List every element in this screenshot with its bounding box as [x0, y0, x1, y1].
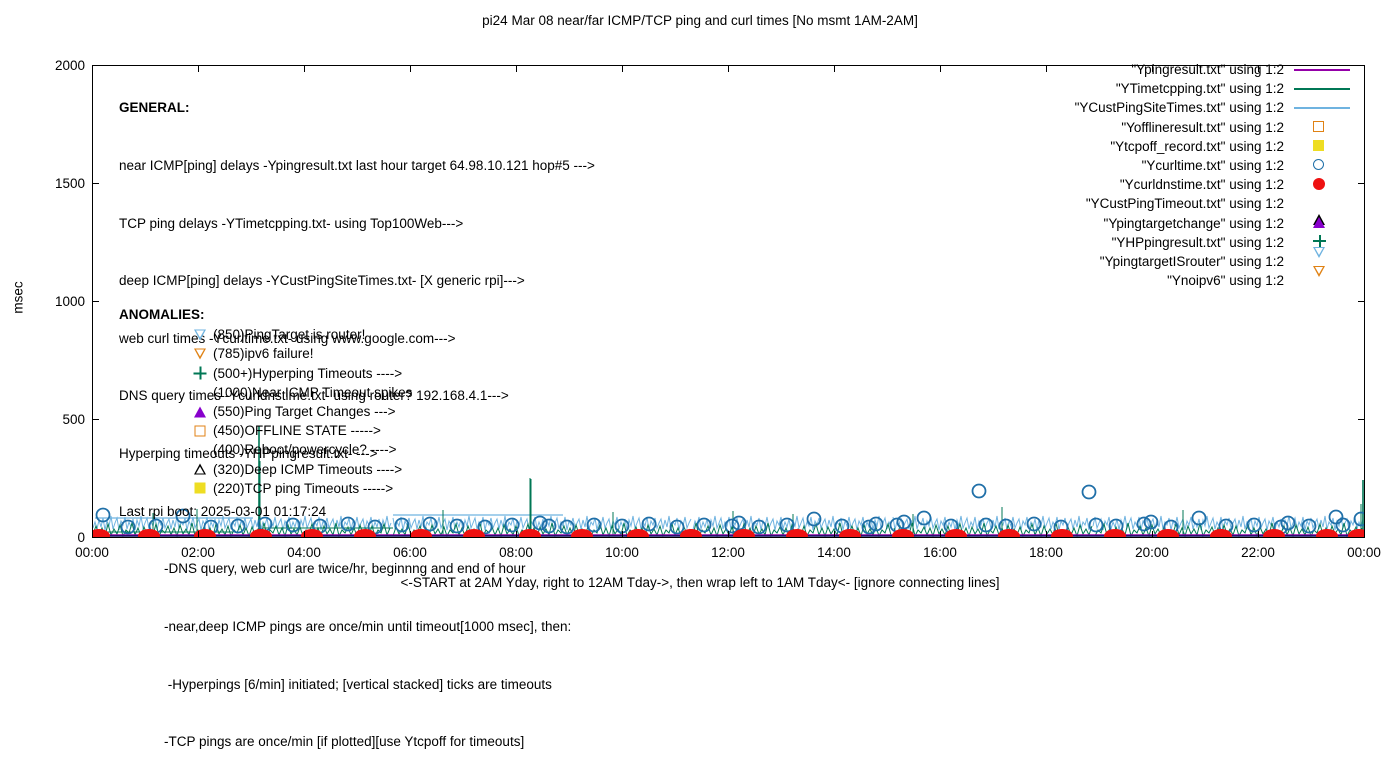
anomalies-block: ANOMALIES: (850)PingTarget is router! (7…	[119, 305, 412, 498]
x-tick-mark-top	[198, 65, 199, 72]
legend-label: "Ynoipv6" using 1:2	[1167, 271, 1284, 290]
x-tick-mark	[622, 531, 623, 538]
anomaly-row: (550)Ping Target Changes --->	[187, 402, 412, 421]
x-tick-mark	[516, 531, 517, 538]
x-tick-mark	[1046, 531, 1047, 538]
legend-label: "Ytcpoff_record.txt" using 1:2	[1110, 137, 1284, 156]
triangle-up-open-icon	[1290, 194, 1360, 213]
general-line: deep ICMP[ping] delays -YCustPingSiteTim…	[119, 271, 595, 290]
legend-label: "YCustPingTimeout.txt" using 1:2	[1086, 194, 1284, 213]
legend-label: "Ycurldnstime.txt" using 1:2	[1120, 175, 1284, 194]
general-header: GENERAL:	[119, 98, 595, 117]
legend-item[interactable]: "Yofflineresult.txt" using 1:2	[960, 118, 1360, 137]
triangle-up-open-icon	[187, 460, 213, 479]
general-line: TCP ping delays -YTimetcpping.txt- using…	[119, 214, 595, 233]
x-tick-label: 10:00	[587, 545, 657, 560]
anomaly-label: (500+)Hyperping Timeouts ---->	[213, 364, 402, 383]
legend-item[interactable]: "Ycurltime.txt" using 1:2	[960, 156, 1360, 175]
legend-line-teal-icon	[1290, 79, 1360, 98]
anomaly-label: (1000)Near ICMP Timeout spikes	[213, 383, 412, 402]
x-tick-label: 18:00	[1011, 545, 1081, 560]
anomaly-label: (320)Deep ICMP Timeouts ---->	[213, 460, 402, 479]
triangle-up-purple-icon	[1290, 214, 1360, 233]
y-tick-label: 1000	[25, 294, 85, 309]
anomaly-label: (450)OFFLINE STATE ----->	[213, 421, 381, 440]
x-tick-label: 06:00	[375, 545, 445, 560]
square-filled-yellow-icon	[1290, 137, 1360, 156]
legend-label: "Ycurltime.txt" using 1:2	[1142, 156, 1284, 175]
x-tick-label: 04:00	[269, 545, 339, 560]
y-tick-label: 500	[25, 412, 85, 427]
x-tick-mark	[1364, 531, 1365, 538]
legend-label: "YCustPingSiteTimes.txt" using 1:2	[1075, 98, 1284, 117]
legend-item[interactable]: "Ycurldnstime.txt" using 1:2	[960, 175, 1360, 194]
square-open-orange-icon	[187, 421, 213, 440]
x-tick-mark	[304, 531, 305, 538]
x-tick-label: 02:00	[163, 545, 233, 560]
x-tick-label: 14:00	[799, 545, 869, 560]
general-line: Last rpi boot: 2025-03-01 01:17:24	[119, 502, 595, 521]
anomaly-label: (550)Ping Target Changes --->	[213, 402, 395, 421]
triangle-down-lightblue-icon	[1290, 252, 1360, 271]
legend-label: "YTimetcpping.txt" using 1:2	[1116, 79, 1284, 98]
y-tick-label: 0	[25, 530, 85, 545]
x-tick-mark-top	[304, 65, 305, 72]
legend-line-lightblue-icon	[1290, 98, 1360, 117]
chart-title: pi24 Mar 08 near/far ICMP/TCP ping and c…	[0, 13, 1400, 28]
legend-line-purple-icon	[1290, 60, 1360, 79]
x-tick-label: 12:00	[693, 545, 763, 560]
x-tick-mark-top	[410, 65, 411, 72]
general-line: -TCP pings are once/min [if plotted][use…	[119, 732, 595, 751]
triangle-down-orange-icon	[1290, 271, 1360, 290]
square-filled-yellow-icon	[187, 479, 213, 498]
no-icon	[187, 440, 213, 459]
x-tick-mark	[92, 531, 93, 538]
legend-item[interactable]: "YTimetcpping.txt" using 1:2	[960, 79, 1360, 98]
legend-label: "Ypingtargetchange" using 1:2	[1104, 214, 1284, 233]
x-tick-mark-top	[940, 65, 941, 72]
circle-filled-red-icon	[1290, 175, 1360, 194]
legend-label: "YpingtargetISrouter" using 1:2	[1100, 252, 1284, 271]
general-line: -near,deep ICMP pings are once/min until…	[119, 617, 595, 636]
legend-item[interactable]: "YpingtargetISrouter" using 1:2	[960, 252, 1360, 271]
x-tick-label: 00:00	[57, 545, 127, 560]
x-tick-mark	[410, 531, 411, 538]
legend-item[interactable]: "Ypingtargetchange" using 1:2	[960, 214, 1360, 233]
legend-item[interactable]: "Ytcpoff_record.txt" using 1:2	[960, 137, 1360, 156]
legend-label: "Yofflineresult.txt" using 1:2	[1121, 118, 1284, 137]
x-tick-label: 00:00	[1329, 545, 1399, 560]
anomaly-row: (450)OFFLINE STATE ----->	[187, 421, 412, 440]
y-tick-label: 2000	[25, 58, 85, 73]
x-tick-mark-top	[1046, 65, 1047, 72]
anomaly-row: (1000)Near ICMP Timeout spikes	[187, 383, 412, 402]
x-tick-label: 22:00	[1223, 545, 1293, 560]
plus-teal-icon	[1290, 233, 1360, 252]
legend-label: "YHPpingresult.txt" using 1:2	[1112, 233, 1284, 252]
triangle-down-orange-icon	[187, 344, 213, 363]
anomaly-label: (400)Reboot/powercycle? ---->	[213, 440, 396, 459]
x-tick-mark	[728, 531, 729, 538]
general-line: -Hyperpings [6/min] initiated; [vertical…	[119, 675, 595, 694]
x-tick-mark-top	[1258, 65, 1259, 72]
anomaly-row: (785)ipv6 failure!	[187, 344, 412, 363]
anomaly-row: (500+)Hyperping Timeouts ---->	[187, 364, 412, 383]
legend-label: "Ypingresult.txt" using 1:2	[1131, 60, 1284, 79]
x-tick-mark	[1152, 531, 1153, 538]
anomaly-row: (400)Reboot/powercycle? ---->	[187, 440, 412, 459]
general-line: near ICMP[ping] delays -Ypingresult.txt …	[119, 156, 595, 175]
triangle-up-purple-icon	[187, 402, 213, 421]
x-tick-label: 20:00	[1117, 545, 1187, 560]
anomaly-label: (785)ipv6 failure!	[213, 344, 314, 363]
legend-item[interactable]: "Ypingresult.txt" using 1:2	[960, 60, 1360, 79]
anomaly-row: (850)PingTarget is router!	[187, 325, 412, 344]
anomalies-header: ANOMALIES:	[119, 305, 412, 324]
x-tick-label: 08:00	[481, 545, 551, 560]
y-tick-label: 1500	[25, 176, 85, 191]
x-tick-mark	[940, 531, 941, 538]
x-tick-mark-top	[516, 65, 517, 72]
no-icon	[187, 383, 213, 402]
legend-item[interactable]: "YHPpingresult.txt" using 1:2	[960, 233, 1360, 252]
x-tick-mark-top	[728, 65, 729, 72]
x-tick-mark	[1258, 531, 1259, 538]
x-tick-mark	[198, 531, 199, 538]
x-axis-caption: <-START at 2AM Yday, right to 12AM Tday-…	[0, 575, 1400, 590]
x-tick-label: 16:00	[905, 545, 975, 560]
legend-item[interactable]: "Ynoipv6" using 1:2	[960, 271, 1360, 290]
anomaly-label: (850)PingTarget is router!	[213, 325, 365, 344]
anomaly-row: (220)TCP ping Timeouts ----->	[187, 479, 412, 498]
x-tick-mark-top	[1152, 65, 1153, 72]
anomaly-label: (220)TCP ping Timeouts ----->	[213, 479, 393, 498]
plus-teal-icon	[187, 364, 213, 383]
x-tick-mark-top	[622, 65, 623, 72]
y-axis-label: msec	[11, 258, 26, 338]
anomaly-row: (320)Deep ICMP Timeouts ---->	[187, 460, 412, 479]
chart-legend: "Ypingresult.txt" using 1:2 "YTimetcppin…	[960, 60, 1360, 290]
circle-open-blue-icon	[1290, 156, 1360, 175]
legend-item[interactable]: "YCustPingTimeout.txt" using 1:2	[960, 194, 1360, 213]
x-tick-mark	[834, 531, 835, 538]
triangle-down-lightblue-icon	[187, 325, 213, 344]
x-tick-mark-top	[834, 65, 835, 72]
y-tick-mark	[92, 537, 99, 538]
square-open-orange-icon	[1290, 118, 1360, 137]
legend-item[interactable]: "YCustPingSiteTimes.txt" using 1:2	[960, 98, 1360, 117]
